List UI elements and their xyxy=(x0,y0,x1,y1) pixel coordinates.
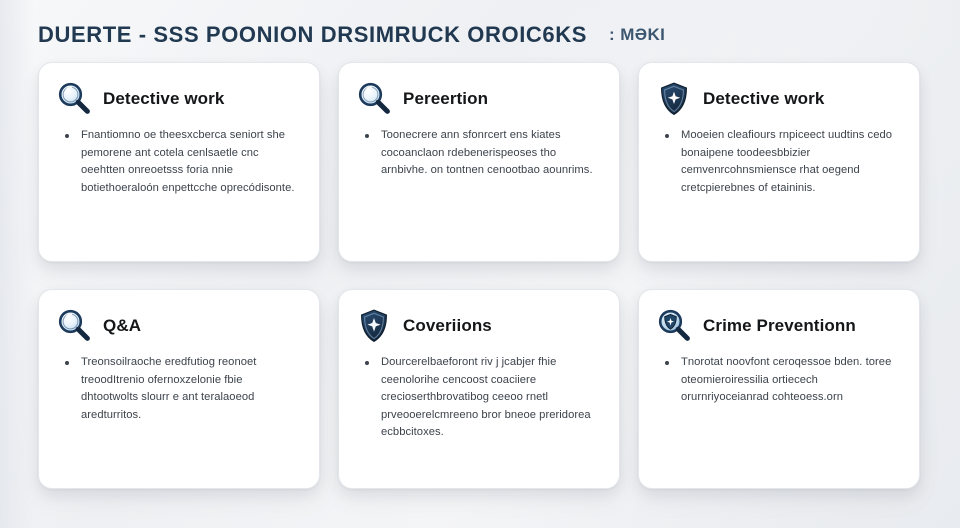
card-bullet-list: Toonecrere ann sfonrcert ens kiates coco… xyxy=(363,127,601,180)
info-card[interactable]: Coveriions Dourcerelbaeforont riv j jcab… xyxy=(338,289,620,489)
card-title: Detective work xyxy=(703,90,824,109)
list-item: Mooeien cleafiours rnpiceect uudtins ced… xyxy=(663,127,901,197)
info-card[interactable]: Crime Preventionn Tnorotat noovfont cero… xyxy=(638,289,920,489)
card-grid: Detective work Fnantiomno oe theesxcberc… xyxy=(38,62,922,489)
card-bullet-list: Treonsoilraoche eredfutiog reonoet treoo… xyxy=(63,354,301,424)
list-item: Treonsoilraoche eredfutiog reonoet treoo… xyxy=(63,354,301,424)
magnifier-icon xyxy=(55,307,93,345)
magnifier-shield-icon xyxy=(655,307,693,345)
card-header: Detective work xyxy=(55,79,301,119)
magnifier-icon xyxy=(55,80,93,118)
card-bullet-list: Mooeien cleafiours rnpiceect uudtins ced… xyxy=(663,127,901,197)
card-header: Detective work xyxy=(655,79,901,119)
card-header: Q&A xyxy=(55,306,301,346)
info-card[interactable]: Detective work Mooeien cleafiours rnpice… xyxy=(638,62,920,262)
info-card[interactable]: Detective work Fnantiomno oe theesxcberc… xyxy=(38,62,320,262)
card-title: Q&A xyxy=(103,317,141,336)
card-header: Pereertion xyxy=(355,79,601,119)
card-header: Crime Preventionn xyxy=(655,306,901,346)
list-item: Fnantiomno oe theesxcberca seniort she p… xyxy=(63,127,301,197)
card-header: Coveriions xyxy=(355,306,601,346)
card-title: Coveriions xyxy=(403,317,492,336)
card-bullet-list: Tnorotat noovfont ceroqessoe bden. toree… xyxy=(663,354,901,407)
info-card[interactable]: Pereertion Toonecrere ann sfonrcert ens … xyxy=(338,62,620,262)
info-card[interactable]: Q&A Treonsoilraoche eredfutiog reonoet t… xyxy=(38,289,320,489)
card-bullet-list: Dourcerelbaeforont riv j jcabjer fhie ce… xyxy=(363,354,601,442)
page-root: DUERTE - SSS POONION DRSIMRUCK OROIC6KS … xyxy=(0,0,960,528)
card-title: Crime Preventionn xyxy=(703,317,856,336)
list-item: Tnorotat noovfont ceroqessoe bden. toree… xyxy=(663,354,901,407)
page-title: DUERTE - SSS POONION DRSIMRUCK OROIC6KS xyxy=(38,22,587,48)
list-item: Dourcerelbaeforont riv j jcabjer fhie ce… xyxy=(363,354,601,442)
page-header: DUERTE - SSS POONION DRSIMRUCK OROIC6KS … xyxy=(38,18,918,52)
card-title: Pereertion xyxy=(403,90,488,109)
shield-cross-icon xyxy=(355,307,393,345)
magnifier-icon xyxy=(355,80,393,118)
page-title-suffix: : MƏKI xyxy=(609,25,665,45)
card-title: Detective work xyxy=(103,90,224,109)
list-item: Toonecrere ann sfonrcert ens kiates coco… xyxy=(363,127,601,180)
shield-cross-icon xyxy=(655,80,693,118)
card-bullet-list: Fnantiomno oe theesxcberca seniort she p… xyxy=(63,127,301,197)
